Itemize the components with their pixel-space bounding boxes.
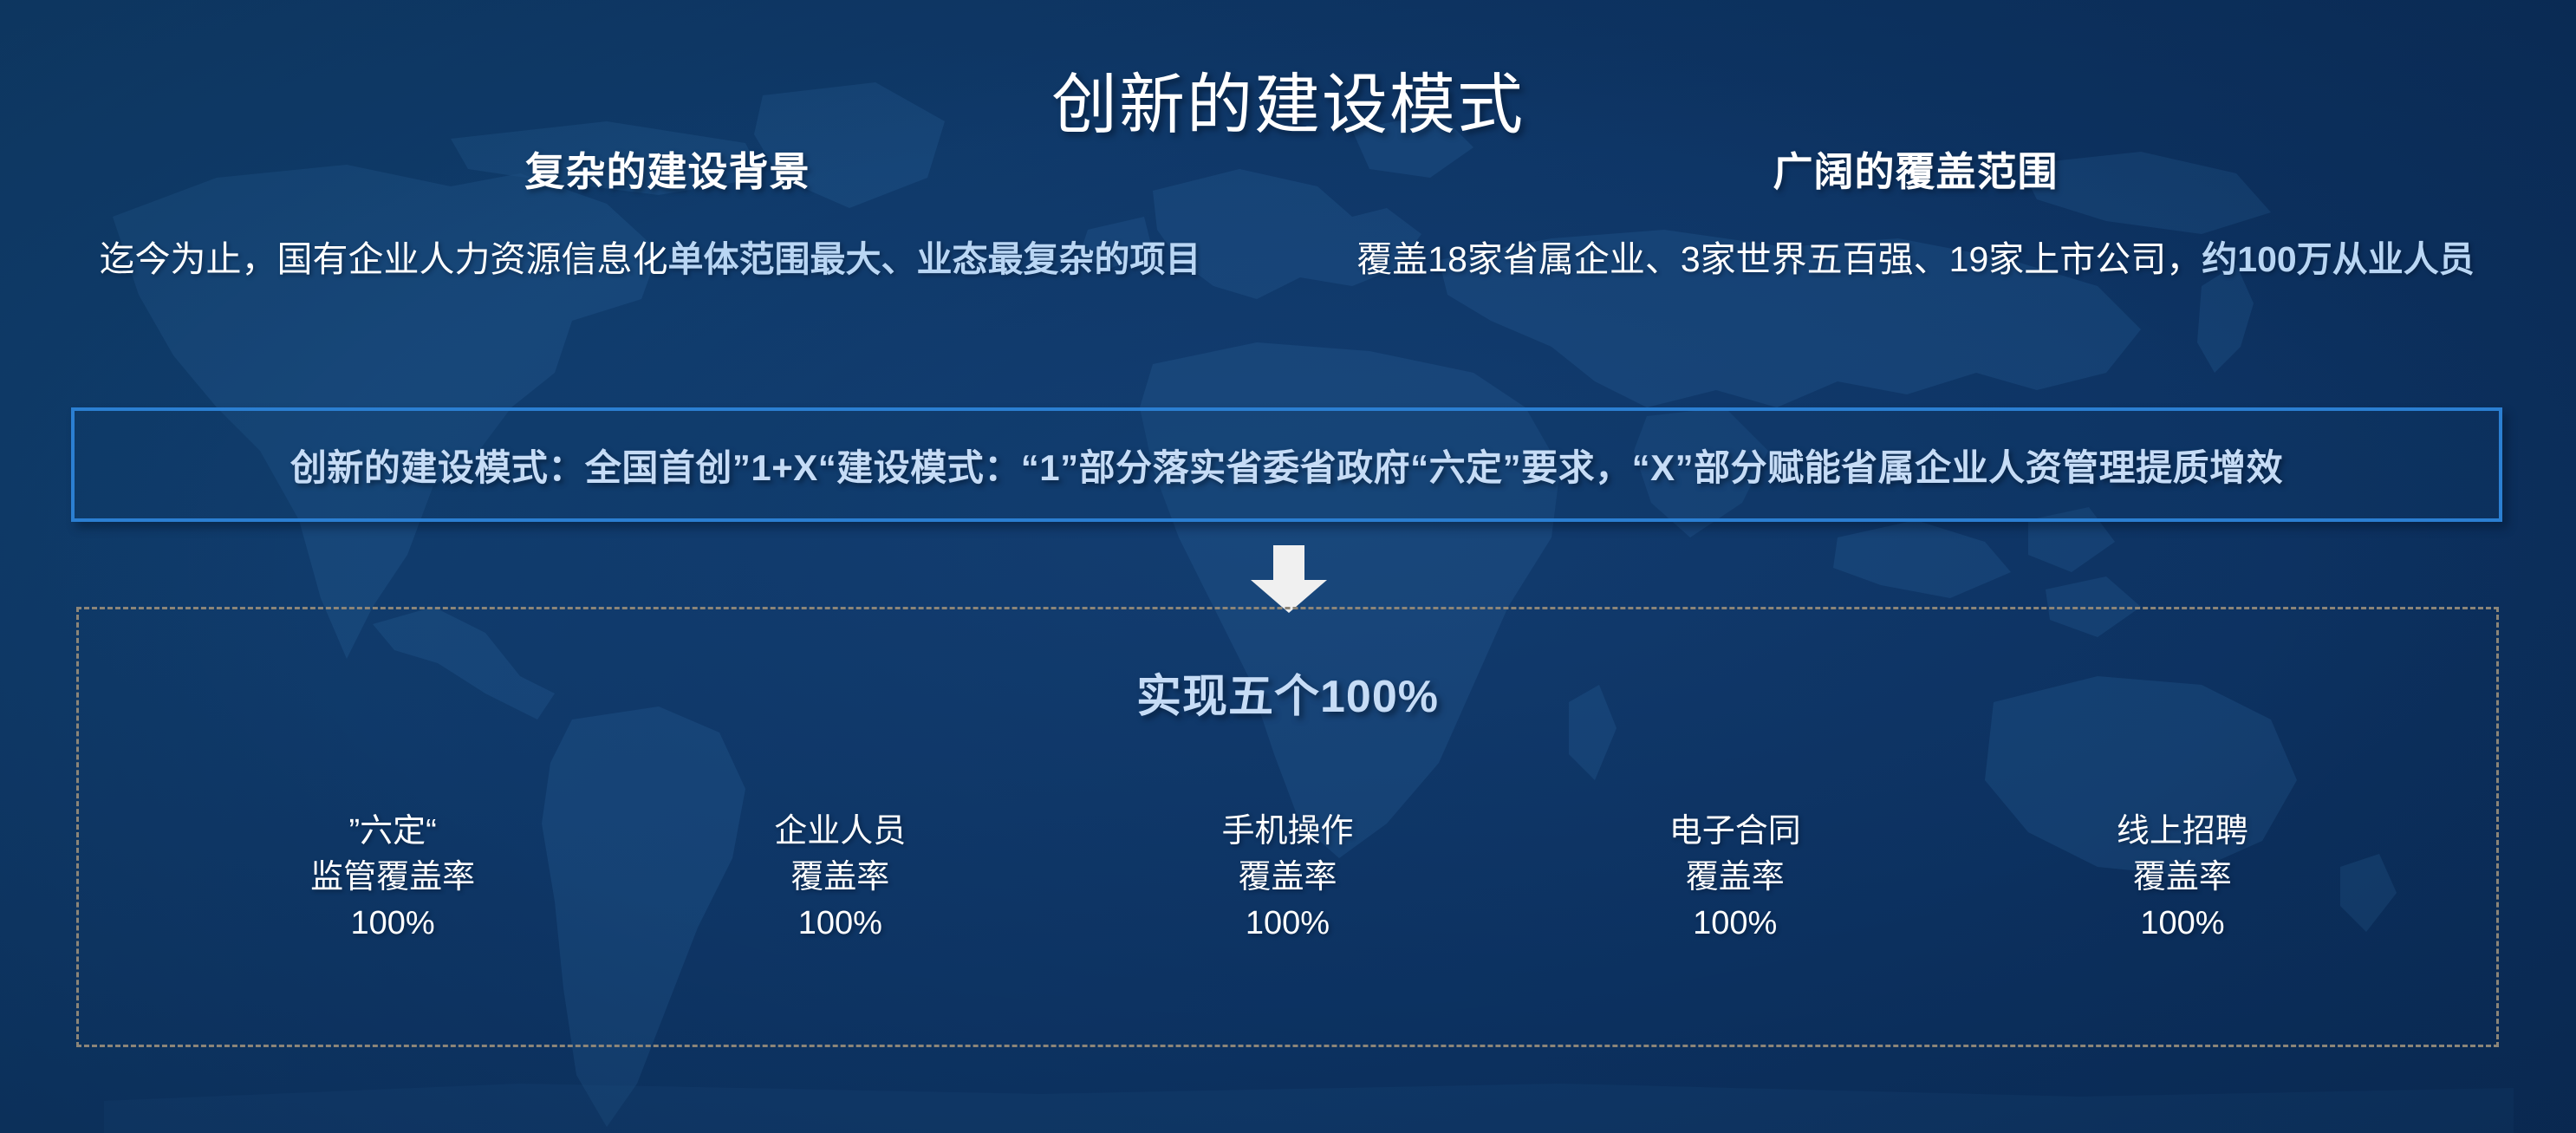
column-construction-background: 复杂的建设背景 迄今为止，国有企业人力资源信息化单体范围最大、业态最复杂的项目 bbox=[52, 140, 1283, 283]
metric-line-1: ”六定“ bbox=[169, 809, 616, 855]
column-body-highlight: 约100万从业人员 bbox=[2202, 239, 2474, 279]
metric-item: 手机操作 覆盖率 100% bbox=[1064, 809, 1511, 947]
page-title: 创新的建设模式 bbox=[0, 51, 2576, 147]
column-coverage-scope: 广阔的覆盖范围 覆盖18家省属企业、3家世界五百强、19家上市公司，约100万从… bbox=[1300, 140, 2531, 283]
metric-line-1: 企业人员 bbox=[616, 809, 1064, 855]
metric-line-2: 监管覆盖率 bbox=[169, 855, 616, 901]
results-panel: 实现五个100% ”六定“ 监管覆盖率 100% 企业人员 覆盖率 100% 手… bbox=[76, 607, 2499, 1047]
slide-root: 创新的建设模式 复杂的建设背景 迄今为止，国有企业人力资源信息化单体范围最大、业… bbox=[0, 0, 2576, 1133]
metric-line-1: 手机操作 bbox=[1064, 809, 1511, 855]
metric-line-1: 电子合同 bbox=[1512, 809, 1959, 855]
banner-text: 创新的建设模式：全国首创”1+X“建设模式：“1”部分落实省委省政府“六定”要求… bbox=[290, 439, 2283, 492]
metric-line-2: 覆盖率 bbox=[1512, 855, 1959, 901]
metric-value: 100% bbox=[1064, 901, 1511, 947]
metric-item: 企业人员 覆盖率 100% bbox=[616, 809, 1064, 947]
construction-mode-banner: 创新的建设模式：全国首创”1+X“建设模式：“1”部分落实省委省政府“六定”要求… bbox=[71, 407, 2502, 522]
column-body-highlight: 单体范围最大、业态最复杂的项目 bbox=[668, 239, 1201, 279]
metric-line-2: 覆盖率 bbox=[616, 855, 1064, 901]
arrow-down-icon bbox=[1249, 545, 1329, 613]
metric-value: 100% bbox=[616, 901, 1064, 947]
metric-line-2: 覆盖率 bbox=[1064, 855, 1511, 901]
column-heading: 广阔的覆盖范围 bbox=[1300, 140, 2531, 198]
metric-item: 线上招聘 覆盖率 100% bbox=[1959, 809, 2406, 947]
metric-line-2: 覆盖率 bbox=[1959, 855, 2406, 901]
metric-value: 100% bbox=[1512, 901, 1959, 947]
metric-value: 100% bbox=[1959, 901, 2406, 947]
column-body-plain: 覆盖18家省属企业、3家世界五百强、19家上市公司， bbox=[1356, 239, 2202, 279]
column-heading: 复杂的建设背景 bbox=[52, 140, 1283, 198]
metric-value: 100% bbox=[169, 901, 616, 947]
metric-line-1: 线上招聘 bbox=[1959, 809, 2406, 855]
column-body-plain: 迄今为止，国有企业人力资源信息化 bbox=[100, 239, 668, 279]
panel-title: 实现五个100% bbox=[79, 660, 2496, 725]
metrics-row: ”六定“ 监管覆盖率 100% 企业人员 覆盖率 100% 手机操作 覆盖率 1… bbox=[79, 809, 2496, 947]
metric-item: ”六定“ 监管覆盖率 100% bbox=[169, 809, 616, 947]
column-body: 覆盖18家省属企业、3家世界五百强、19家上市公司，约100万从业人员 bbox=[1300, 236, 2531, 283]
metric-item: 电子合同 覆盖率 100% bbox=[1512, 809, 1959, 947]
column-body: 迄今为止，国有企业人力资源信息化单体范围最大、业态最复杂的项目 bbox=[52, 236, 1283, 283]
